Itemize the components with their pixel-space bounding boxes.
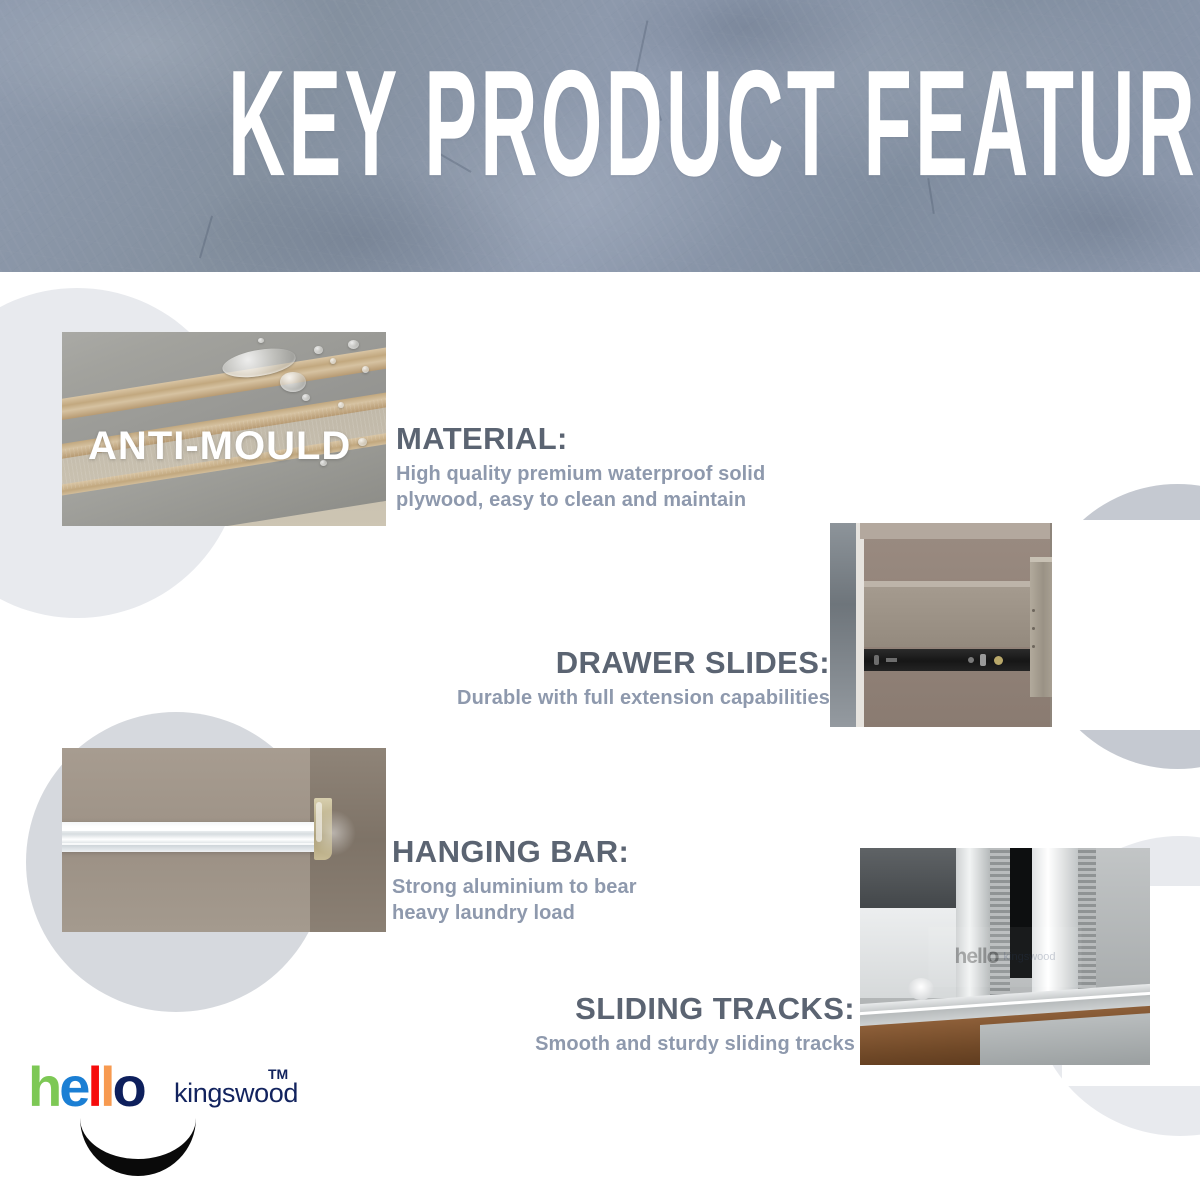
photo-sliding-tracks: hello kingswood — [860, 848, 1150, 1065]
logo-smile-icon — [80, 1118, 196, 1176]
door-brush-seal — [1078, 848, 1096, 1000]
cabinet-top-edge — [860, 523, 1050, 539]
photo-background-fill — [1052, 523, 1068, 727]
door-brush-seal — [990, 848, 1010, 1000]
cabinet-reveal — [856, 523, 864, 727]
door-profile — [956, 848, 990, 1004]
logo-letter-l-red: l — [87, 1064, 100, 1110]
drawer-hole — [1032, 609, 1035, 612]
bracket-glare — [310, 810, 356, 856]
brand-logo: h e l l o kingswood TM — [28, 1064, 308, 1160]
feature-sliding-tracks: SLIDING TRACKS: Smooth and sturdy slidin… — [480, 991, 855, 1057]
door-profile — [1032, 848, 1078, 1006]
drawer-box-top — [864, 581, 1032, 587]
drawer-box — [864, 585, 1032, 647]
runner-slot — [980, 654, 986, 666]
infographic-page: KEY PRODUCT FEATURES ANTI-MOULD — [0, 0, 1200, 1200]
door-glass-panel — [860, 848, 956, 908]
page-title: KEY PRODUCT FEATURES — [228, 56, 972, 193]
photo-drawer-slides — [830, 523, 1068, 727]
runner-slot — [874, 655, 879, 665]
door-roller — [908, 978, 934, 1000]
logo-letter-l-orange: l — [100, 1064, 113, 1110]
feature-heading-material: MATERIAL: — [396, 421, 836, 457]
photo-hanging-bar — [62, 748, 386, 932]
feature-hanging-bar: HANGING BAR: Strong aluminium to bear he… — [392, 834, 692, 926]
feature-heading-sliding-tracks: SLIDING TRACKS: — [480, 991, 855, 1027]
water-droplet — [302, 394, 310, 401]
feature-body-drawer-slides: Durable with full extension capabilities — [370, 685, 830, 711]
logo-letter-o: o — [113, 1064, 144, 1110]
header-banner: KEY PRODUCT FEATURES — [0, 0, 1200, 272]
photo-plywood-anti-mould: ANTI-MOULD — [62, 332, 386, 526]
runner-rivet — [968, 657, 974, 663]
water-droplet — [330, 358, 336, 364]
water-droplet — [362, 366, 369, 373]
water-droplet — [314, 346, 323, 354]
logo-brand-name: kingswood — [174, 1078, 298, 1109]
logo-wordmark-hello: h e l l o — [28, 1064, 144, 1112]
image-overlay-label-anti-mould: ANTI-MOULD — [62, 424, 386, 469]
logo-trademark-symbol: TM — [268, 1066, 288, 1082]
rail-highlight — [62, 843, 322, 845]
water-droplet — [280, 372, 306, 392]
feature-body-material: High quality premium waterproof solid pl… — [396, 461, 836, 513]
drawer-hole — [1032, 627, 1035, 630]
drawer-front-top — [1030, 557, 1052, 562]
water-droplet — [348, 340, 359, 349]
feature-material: MATERIAL: High quality premium waterproo… — [396, 421, 836, 513]
drawer-hole — [1032, 645, 1035, 648]
rail-highlight — [62, 828, 322, 831]
runner-slot — [886, 658, 897, 662]
runner-screw — [994, 656, 1003, 665]
wardrobe-interior — [1096, 848, 1150, 998]
logo-letter-e: e — [59, 1064, 87, 1110]
feature-drawer-slides: DRAWER SLIDES: Durable with full extensi… — [370, 645, 830, 711]
water-droplet — [338, 402, 344, 408]
feature-body-sliding-tracks: Smooth and sturdy sliding tracks — [480, 1031, 855, 1057]
feature-heading-hanging-bar: HANGING BAR: — [392, 834, 692, 870]
circle-mask-drawer — [1060, 520, 1200, 730]
aluminium-rail — [62, 822, 322, 852]
logo-letter-h: h — [28, 1064, 59, 1110]
feature-body-hanging-bar: Strong aluminium to bear heavy laundry l… — [392, 874, 692, 926]
feature-heading-drawer-slides: DRAWER SLIDES: — [370, 645, 830, 681]
door-gap — [1010, 848, 1032, 978]
water-droplet — [258, 338, 264, 343]
